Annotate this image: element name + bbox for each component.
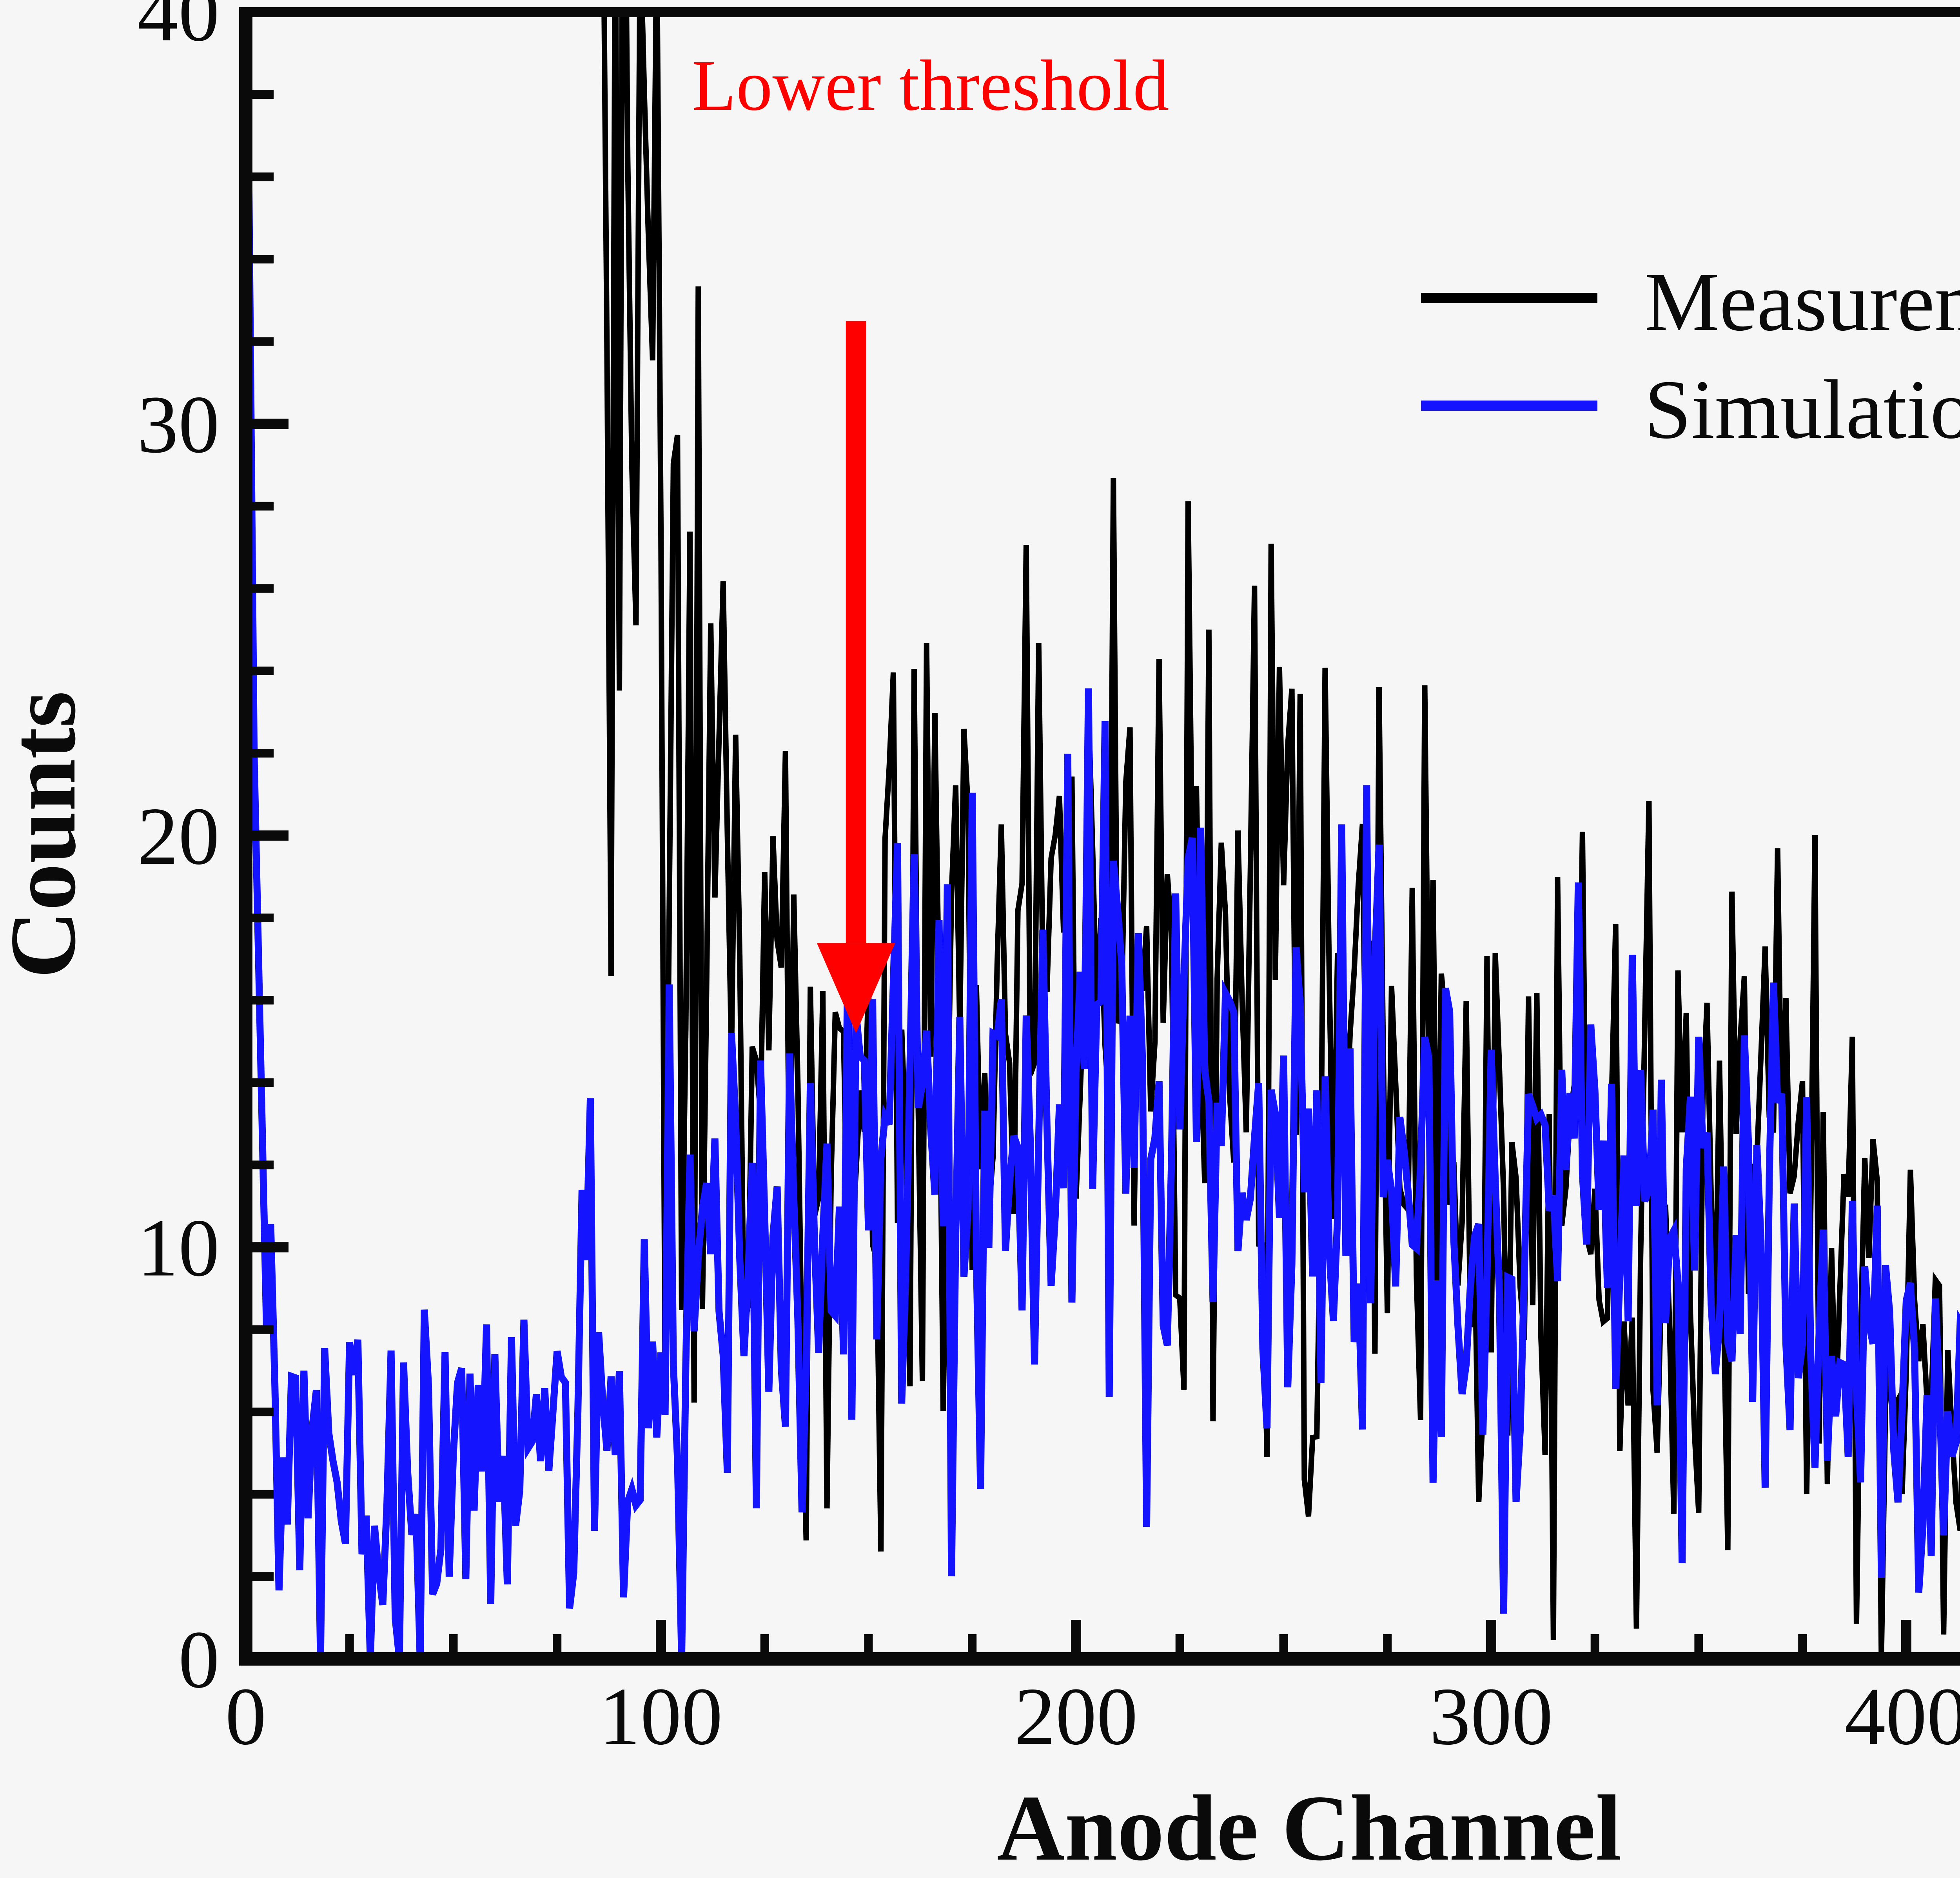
x-tick-label: 100 [599,1671,723,1762]
y-minor-tick [252,1490,274,1499]
x-minor-tick [345,1634,354,1655]
y-minor-tick [252,749,274,758]
y-tick-label: 20 [137,791,220,882]
x-tick-label: 200 [1014,1671,1138,1762]
y-minor-tick [252,1408,274,1416]
x-minor-tick [1798,1634,1807,1655]
x-major-tick [1071,1620,1081,1655]
x-axis-title: Anode Channel [997,1776,1622,1878]
y-major-tick [252,7,289,17]
y-minor-tick [252,255,274,263]
x-minor-tick [1694,1634,1703,1655]
spectrum-chart: 0100200300400500010203040 Anode Channel … [0,0,1960,1878]
y-tick-label: 40 [137,0,220,58]
plot-top-border [239,7,1960,17]
x-minor-tick [553,1634,561,1655]
x-major-tick [241,1620,251,1655]
x-tick-label: 0 [225,1671,267,1762]
y-major-tick [252,830,289,841]
x-minor-tick [449,1634,458,1655]
x-major-tick [1486,1620,1496,1655]
y-minor-tick [252,90,274,99]
y-tick-label: 0 [178,1614,220,1705]
y-minor-tick [252,667,274,675]
arrow-shaft [846,321,866,943]
y-minor-tick [252,1078,274,1087]
x-tick-label: 400 [1844,1671,1960,1762]
chart-page: 0100200300400500010203040 Anode Channel … [0,0,1960,1878]
y-minor-tick [252,172,274,181]
x-minor-tick [1383,1634,1392,1655]
legend-swatch-line [1421,401,1597,411]
legend-item-label: Measurement [1644,255,1960,348]
x-major-tick [1901,1620,1911,1655]
x-tick-label: 300 [1430,1671,1553,1762]
x-minor-tick [1176,1634,1184,1655]
y-minor-tick [252,1325,274,1334]
y-major-tick [252,1654,289,1664]
y-tick-label: 30 [137,379,220,470]
y-minor-tick [252,1572,274,1581]
x-major-tick [656,1620,666,1655]
x-minor-tick [760,1634,769,1655]
x-minor-tick [1279,1634,1288,1655]
y-minor-tick [252,914,274,922]
x-minor-tick [1591,1634,1599,1655]
lower-threshold-label: Lower threshold [692,45,1169,126]
y-minor-tick [252,584,274,593]
y-major-tick [252,1242,289,1253]
y-axis-spine [239,7,252,1666]
y-minor-tick [252,996,274,1004]
y-tick-label: 10 [137,1203,220,1294]
legend-item-label: Simulation [1644,363,1960,456]
legend-swatch-line [1421,293,1597,303]
y-minor-tick [252,337,274,346]
x-minor-tick [968,1634,976,1655]
y-minor-tick [252,502,274,511]
y-minor-tick [252,1160,274,1169]
y-axis-title: Counts [0,691,95,979]
x-minor-tick [864,1634,873,1655]
y-major-tick [252,419,289,429]
